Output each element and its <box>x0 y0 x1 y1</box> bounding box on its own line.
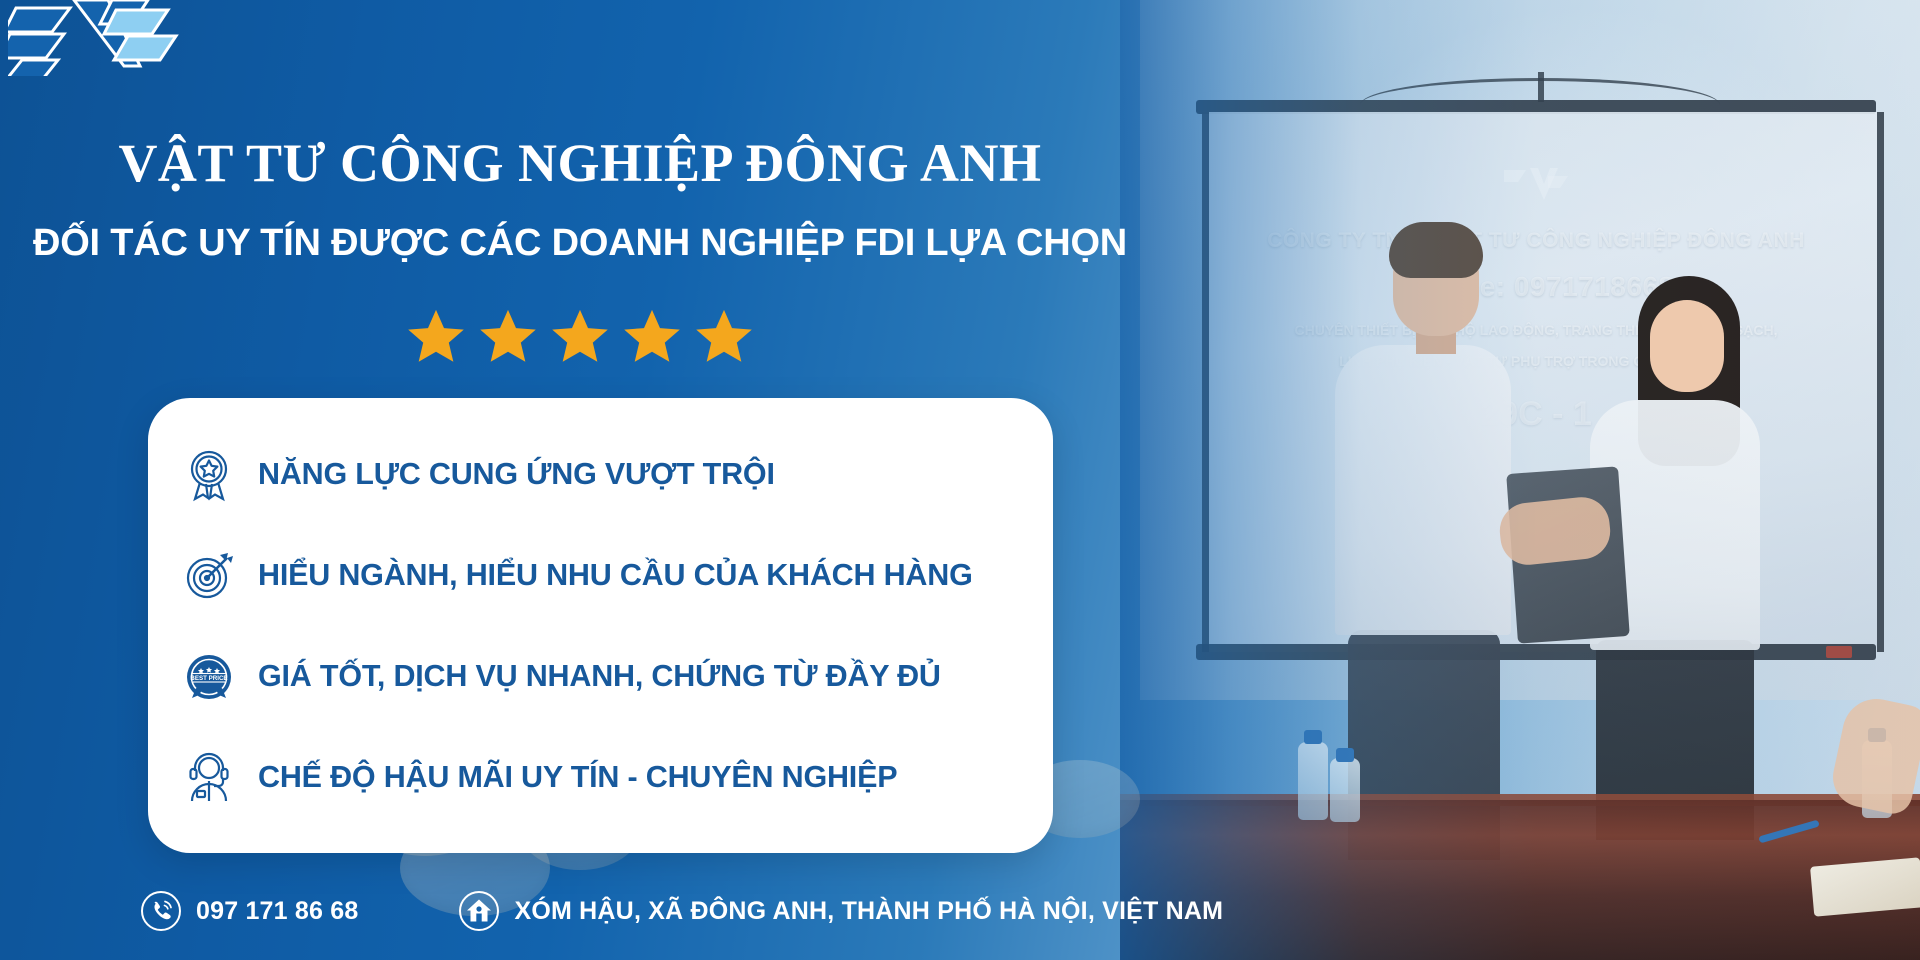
page-title: VẬT TƯ CÔNG NGHIỆP ĐÔNG ANH <box>0 132 1160 194</box>
feature-label: NĂNG LỰC CUNG ỨNG VƯỢT TRỘI <box>258 457 775 492</box>
medal-ribbon-icon <box>182 448 236 502</box>
feature-label: HIỂU NGÀNH, HIỂU NHU CẦU CỦA KHÁCH HÀNG <box>258 558 973 593</box>
feature-item: HIỂU NGÀNH, HIỂU NHU CẦU CỦA KHÁCH HÀNG <box>148 525 1053 626</box>
address-contact[interactable]: XÓM HẬU, XÃ ĐÔNG ANH, THÀNH PHỐ HÀ NỘI, … <box>458 890 1223 932</box>
man-shirt <box>1335 345 1511 635</box>
notebook <box>1810 857 1920 916</box>
best-price-icon: BEST PRICE <box>182 650 236 704</box>
star-icon <box>405 306 467 368</box>
projector-screen-hook <box>1538 72 1544 102</box>
feature-item: BEST PRICE GIÁ TỐT, DỊCH VỤ NHANH, CHỨNG… <box>148 626 1053 727</box>
projector-screen-bottom-bar <box>1196 644 1876 660</box>
best-price-badge-text: BEST PRICE <box>190 675 227 682</box>
water-bottle-cap <box>1304 730 1322 744</box>
target-dart-icon <box>182 549 236 603</box>
star-icon <box>621 306 683 368</box>
star-icon <box>693 306 755 368</box>
phone-contact[interactable]: 097 171 86 68 <box>140 890 358 932</box>
feature-item: CHẾ ĐỘ HẬU MÃI UY TÍN - CHUYÊN NGHIỆP <box>148 727 1053 828</box>
star-rating <box>0 306 1160 368</box>
water-bottle-cap <box>1336 748 1354 762</box>
address-text: XÓM HẬU, XÃ ĐÔNG ANH, THÀNH PHỐ HÀ NỘI, … <box>514 897 1223 926</box>
company-logo <box>8 0 184 76</box>
water-bottle <box>1330 758 1360 822</box>
footer-contacts: 097 171 86 68 XÓM HẬU, XÃ ĐÔNG ANH, THÀN… <box>140 890 1223 932</box>
feature-item: NĂNG LỰC CUNG ỨNG VƯỢT TRỘI <box>148 424 1053 525</box>
phone-ringing-icon <box>140 890 182 932</box>
promotional-banner: CÔNG TY TNHH VẬT TƯ CÔNG NGHIỆP ĐÔNG ANH… <box>0 0 1920 960</box>
feature-card: NĂNG LỰC CUNG ỨNG VƯỢT TRỘI HIỂU NGÀNH, … <box>148 398 1053 853</box>
feature-label: CHẾ ĐỘ HẬU MÃI UY TÍN - CHUYÊN NGHIỆP <box>258 760 897 795</box>
feature-label: GIÁ TỐT, DỊCH VỤ NHANH, CHỨNG TỪ ĐẦY ĐỦ <box>258 659 941 694</box>
home-icon <box>458 890 500 932</box>
page-subtitle: ĐỐI TÁC UY TÍN ĐƯỢC CÁC DOANH NGHIỆP FDI… <box>0 222 1160 265</box>
star-icon <box>477 306 539 368</box>
water-bottle <box>1298 742 1328 820</box>
projector-screen-knob <box>1826 646 1852 658</box>
woman-face <box>1650 300 1724 392</box>
phone-number: 097 171 86 68 <box>196 897 358 926</box>
headset-agent-icon <box>182 751 236 805</box>
star-icon <box>549 306 611 368</box>
man-hair <box>1389 222 1483 278</box>
